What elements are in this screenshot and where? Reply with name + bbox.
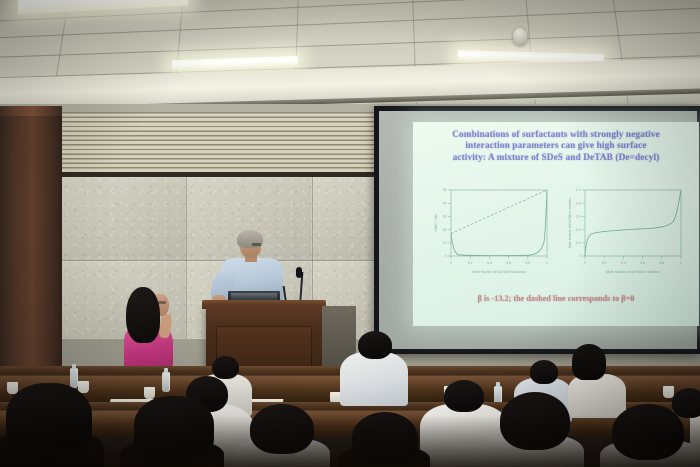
svg-text:50: 50 bbox=[443, 188, 447, 192]
wood-column-left-cap bbox=[0, 106, 62, 116]
chart-micelle-xlabel: Mole fraction of DeTAB in solution bbox=[606, 270, 660, 274]
svg-text:0.4: 0.4 bbox=[487, 261, 492, 265]
svg-text:0.2: 0.2 bbox=[576, 241, 581, 245]
svg-text:0: 0 bbox=[445, 254, 447, 258]
chart-cmc-xlabel: Mole fraction of DeTAB in solution bbox=[472, 270, 526, 274]
audience-head bbox=[358, 331, 392, 359]
svg-text:0.4: 0.4 bbox=[576, 228, 581, 232]
chart-cmc-ylabel: CMC / mM bbox=[434, 214, 438, 231]
audience-head bbox=[212, 356, 239, 379]
svg-text:20: 20 bbox=[443, 228, 447, 232]
standing-woman-glasses-icon bbox=[157, 301, 166, 304]
smoke-detector-icon bbox=[513, 28, 527, 45]
svg-text:0.8: 0.8 bbox=[525, 261, 530, 265]
chart-cmc-svg: 0 10 20 30 40 50 CMC / mM bbox=[423, 184, 555, 288]
speaker-glasses-icon bbox=[252, 243, 261, 246]
svg-text:0.2: 0.2 bbox=[602, 261, 607, 265]
standing-woman-hair bbox=[126, 287, 160, 343]
svg-text:0.6: 0.6 bbox=[506, 261, 511, 265]
svg-text:0.4: 0.4 bbox=[621, 261, 626, 265]
svg-text:0.8: 0.8 bbox=[576, 201, 581, 205]
chart-cmc-series-beta bbox=[451, 190, 547, 256]
svg-text:0: 0 bbox=[450, 261, 452, 265]
audience-torso bbox=[340, 352, 408, 406]
lecture-hall-photo: Combinations of surfactants with strongl… bbox=[0, 0, 700, 467]
chart-cmc-vs-mole-fraction: 0 10 20 30 40 50 CMC / mM bbox=[423, 184, 555, 288]
panel-seam-v1 bbox=[186, 177, 187, 339]
slide-title: Combinations of surfactants with strongl… bbox=[421, 130, 691, 164]
presentation-slide: Combinations of surfactants with strongl… bbox=[413, 122, 699, 326]
svg-text:0: 0 bbox=[579, 254, 581, 258]
audience-head bbox=[444, 380, 484, 412]
slide-caption: β is -13.2; the dashed line corresponds … bbox=[421, 294, 691, 303]
chart-micelle-composition: 0 0.2 0.4 0.6 0.8 1.0 Mole fraction of D… bbox=[555, 184, 691, 288]
svg-text:10: 10 bbox=[443, 241, 447, 245]
slide-title-line-1: Combinations of surfactants with strongl… bbox=[421, 130, 691, 141]
chart-micelle-ylabel: Mole fraction of DeTAB in micelles bbox=[568, 198, 572, 248]
foreground-shadow bbox=[0, 415, 700, 467]
svg-text:40: 40 bbox=[443, 201, 447, 205]
chart-cmc-series-ideal bbox=[451, 190, 547, 234]
panel-seam-h bbox=[60, 260, 376, 261]
svg-text:0.8: 0.8 bbox=[659, 261, 664, 265]
water-bottle-1 bbox=[70, 368, 78, 388]
chart-micelle-svg: 0 0.2 0.4 0.6 0.8 1.0 Mole fraction of D… bbox=[555, 184, 691, 288]
microphone-icon bbox=[296, 267, 302, 278]
svg-text:0.6: 0.6 bbox=[640, 261, 645, 265]
paper-cup-4 bbox=[144, 387, 155, 399]
svg-text:0.2: 0.2 bbox=[468, 261, 473, 265]
audience-head bbox=[572, 344, 606, 380]
svg-text:0: 0 bbox=[584, 261, 586, 265]
audience-head bbox=[672, 388, 700, 418]
water-bottle-2 bbox=[162, 372, 170, 392]
svg-text:1: 1 bbox=[680, 261, 682, 265]
slide-title-line-3: activity: A mixture of SDeS and DeTAB (D… bbox=[421, 153, 691, 164]
wood-column-left bbox=[0, 106, 62, 368]
wall-panel-a bbox=[60, 177, 186, 261]
svg-text:0.6: 0.6 bbox=[576, 215, 581, 219]
audience-head bbox=[530, 360, 558, 384]
svg-text:1.0: 1.0 bbox=[576, 188, 581, 192]
audience-torso bbox=[568, 374, 626, 418]
chart-micelle-series bbox=[585, 190, 681, 256]
wall-panel-c bbox=[312, 177, 376, 261]
slide-title-line-2: interaction parameters can give high sur… bbox=[421, 141, 691, 152]
svg-text:30: 30 bbox=[443, 215, 447, 219]
svg-text:1: 1 bbox=[546, 261, 548, 265]
